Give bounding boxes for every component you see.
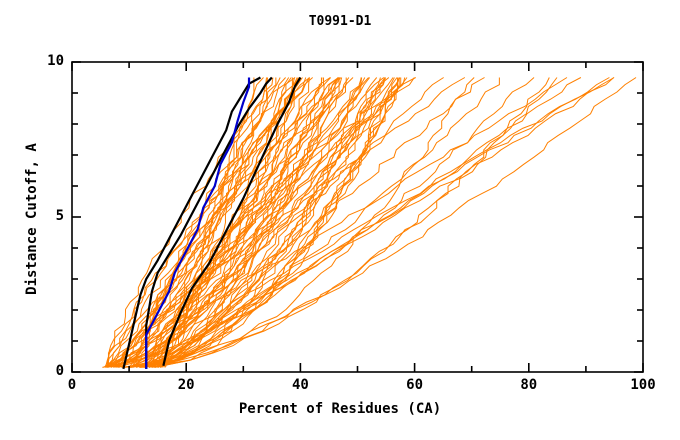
background-series-line	[141, 78, 557, 368]
background-series-line	[103, 78, 567, 368]
y-tick-label: 0	[28, 363, 64, 379]
x-tick-label: 0	[52, 377, 92, 393]
x-tick-label: 80	[509, 377, 549, 393]
y-tick-label: 10	[28, 53, 64, 69]
series-layer	[102, 78, 636, 369]
plot-canvas	[0, 0, 680, 440]
chart-figure: T0991-D1 Distance Cutoff, A Percent of R…	[0, 0, 680, 440]
y-tick-label: 5	[28, 208, 64, 224]
x-tick-label: 60	[395, 377, 435, 393]
x-tick-label: 20	[166, 377, 206, 393]
x-tick-label: 40	[280, 377, 320, 393]
x-tick-label: 100	[623, 377, 663, 393]
background-series-line	[107, 78, 303, 368]
x-axis-label: Percent of Residues (CA)	[0, 401, 680, 417]
